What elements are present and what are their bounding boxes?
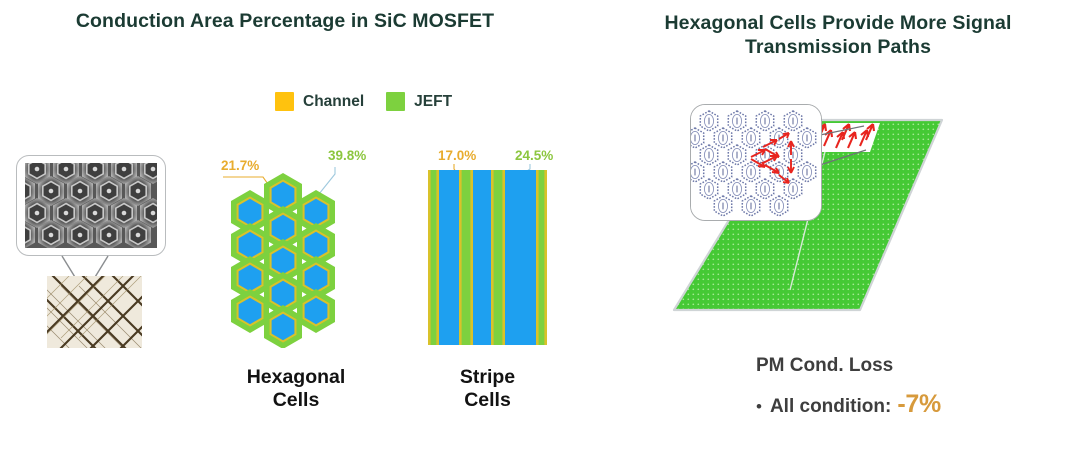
stripe-cells-caption-line2: Cells bbox=[410, 389, 565, 412]
legend-item-jeft: JEFT bbox=[386, 92, 452, 111]
legend-swatch-channel-icon bbox=[275, 92, 294, 111]
optical-grid-pattern-icon bbox=[47, 276, 142, 348]
legend-item-channel: Channel bbox=[275, 92, 364, 111]
transmission-paths-callout bbox=[690, 104, 822, 221]
page-title-right: Hexagonal Cells Provide More Signal Tran… bbox=[612, 12, 1064, 60]
slide-root: Conduction Area Percentage in SiC MOSFET… bbox=[0, 0, 1080, 452]
stripe-cells-icon bbox=[428, 170, 547, 345]
pm-cond-loss-heading: PM Cond. Loss bbox=[756, 355, 893, 377]
pm-condition-value: -7% bbox=[897, 390, 941, 419]
sem-micrograph-image bbox=[25, 163, 157, 248]
hexagonal-cells-diagram bbox=[228, 168, 362, 348]
stripe-cells-caption-line1: Stripe bbox=[410, 366, 565, 389]
legend-label-channel: Channel bbox=[303, 93, 364, 111]
hexagonal-cells-caption-line2: Cells bbox=[215, 389, 377, 412]
legend: Channel JEFT bbox=[275, 92, 452, 111]
legend-swatch-jeft-icon bbox=[386, 92, 405, 111]
die-perspective-icon bbox=[612, 78, 1068, 340]
optical-micrograph-image bbox=[47, 276, 142, 348]
hexagonal-cells-icon bbox=[228, 168, 362, 348]
sem-hex-pattern-icon bbox=[25, 163, 157, 248]
page-title-left: Conduction Area Percentage in SiC MOSFET bbox=[40, 10, 530, 34]
hexagonal-cells-caption: Hexagonal Cells bbox=[215, 366, 377, 413]
stripe-cells-diagram bbox=[428, 170, 547, 345]
stripe-cells-caption: Stripe Cells bbox=[410, 366, 565, 413]
pm-condition-label: All condition: bbox=[770, 396, 891, 418]
pm-cond-loss-row: • All condition: -7% bbox=[756, 390, 941, 419]
bullet-icon: • bbox=[756, 398, 762, 415]
legend-label-jeft: JEFT bbox=[414, 93, 452, 111]
hex-transmission-paths-icon bbox=[691, 105, 821, 220]
die-illustration bbox=[612, 78, 1068, 340]
hexagonal-cells-caption-line1: Hexagonal bbox=[215, 366, 377, 389]
sem-micrograph-card bbox=[16, 155, 166, 256]
